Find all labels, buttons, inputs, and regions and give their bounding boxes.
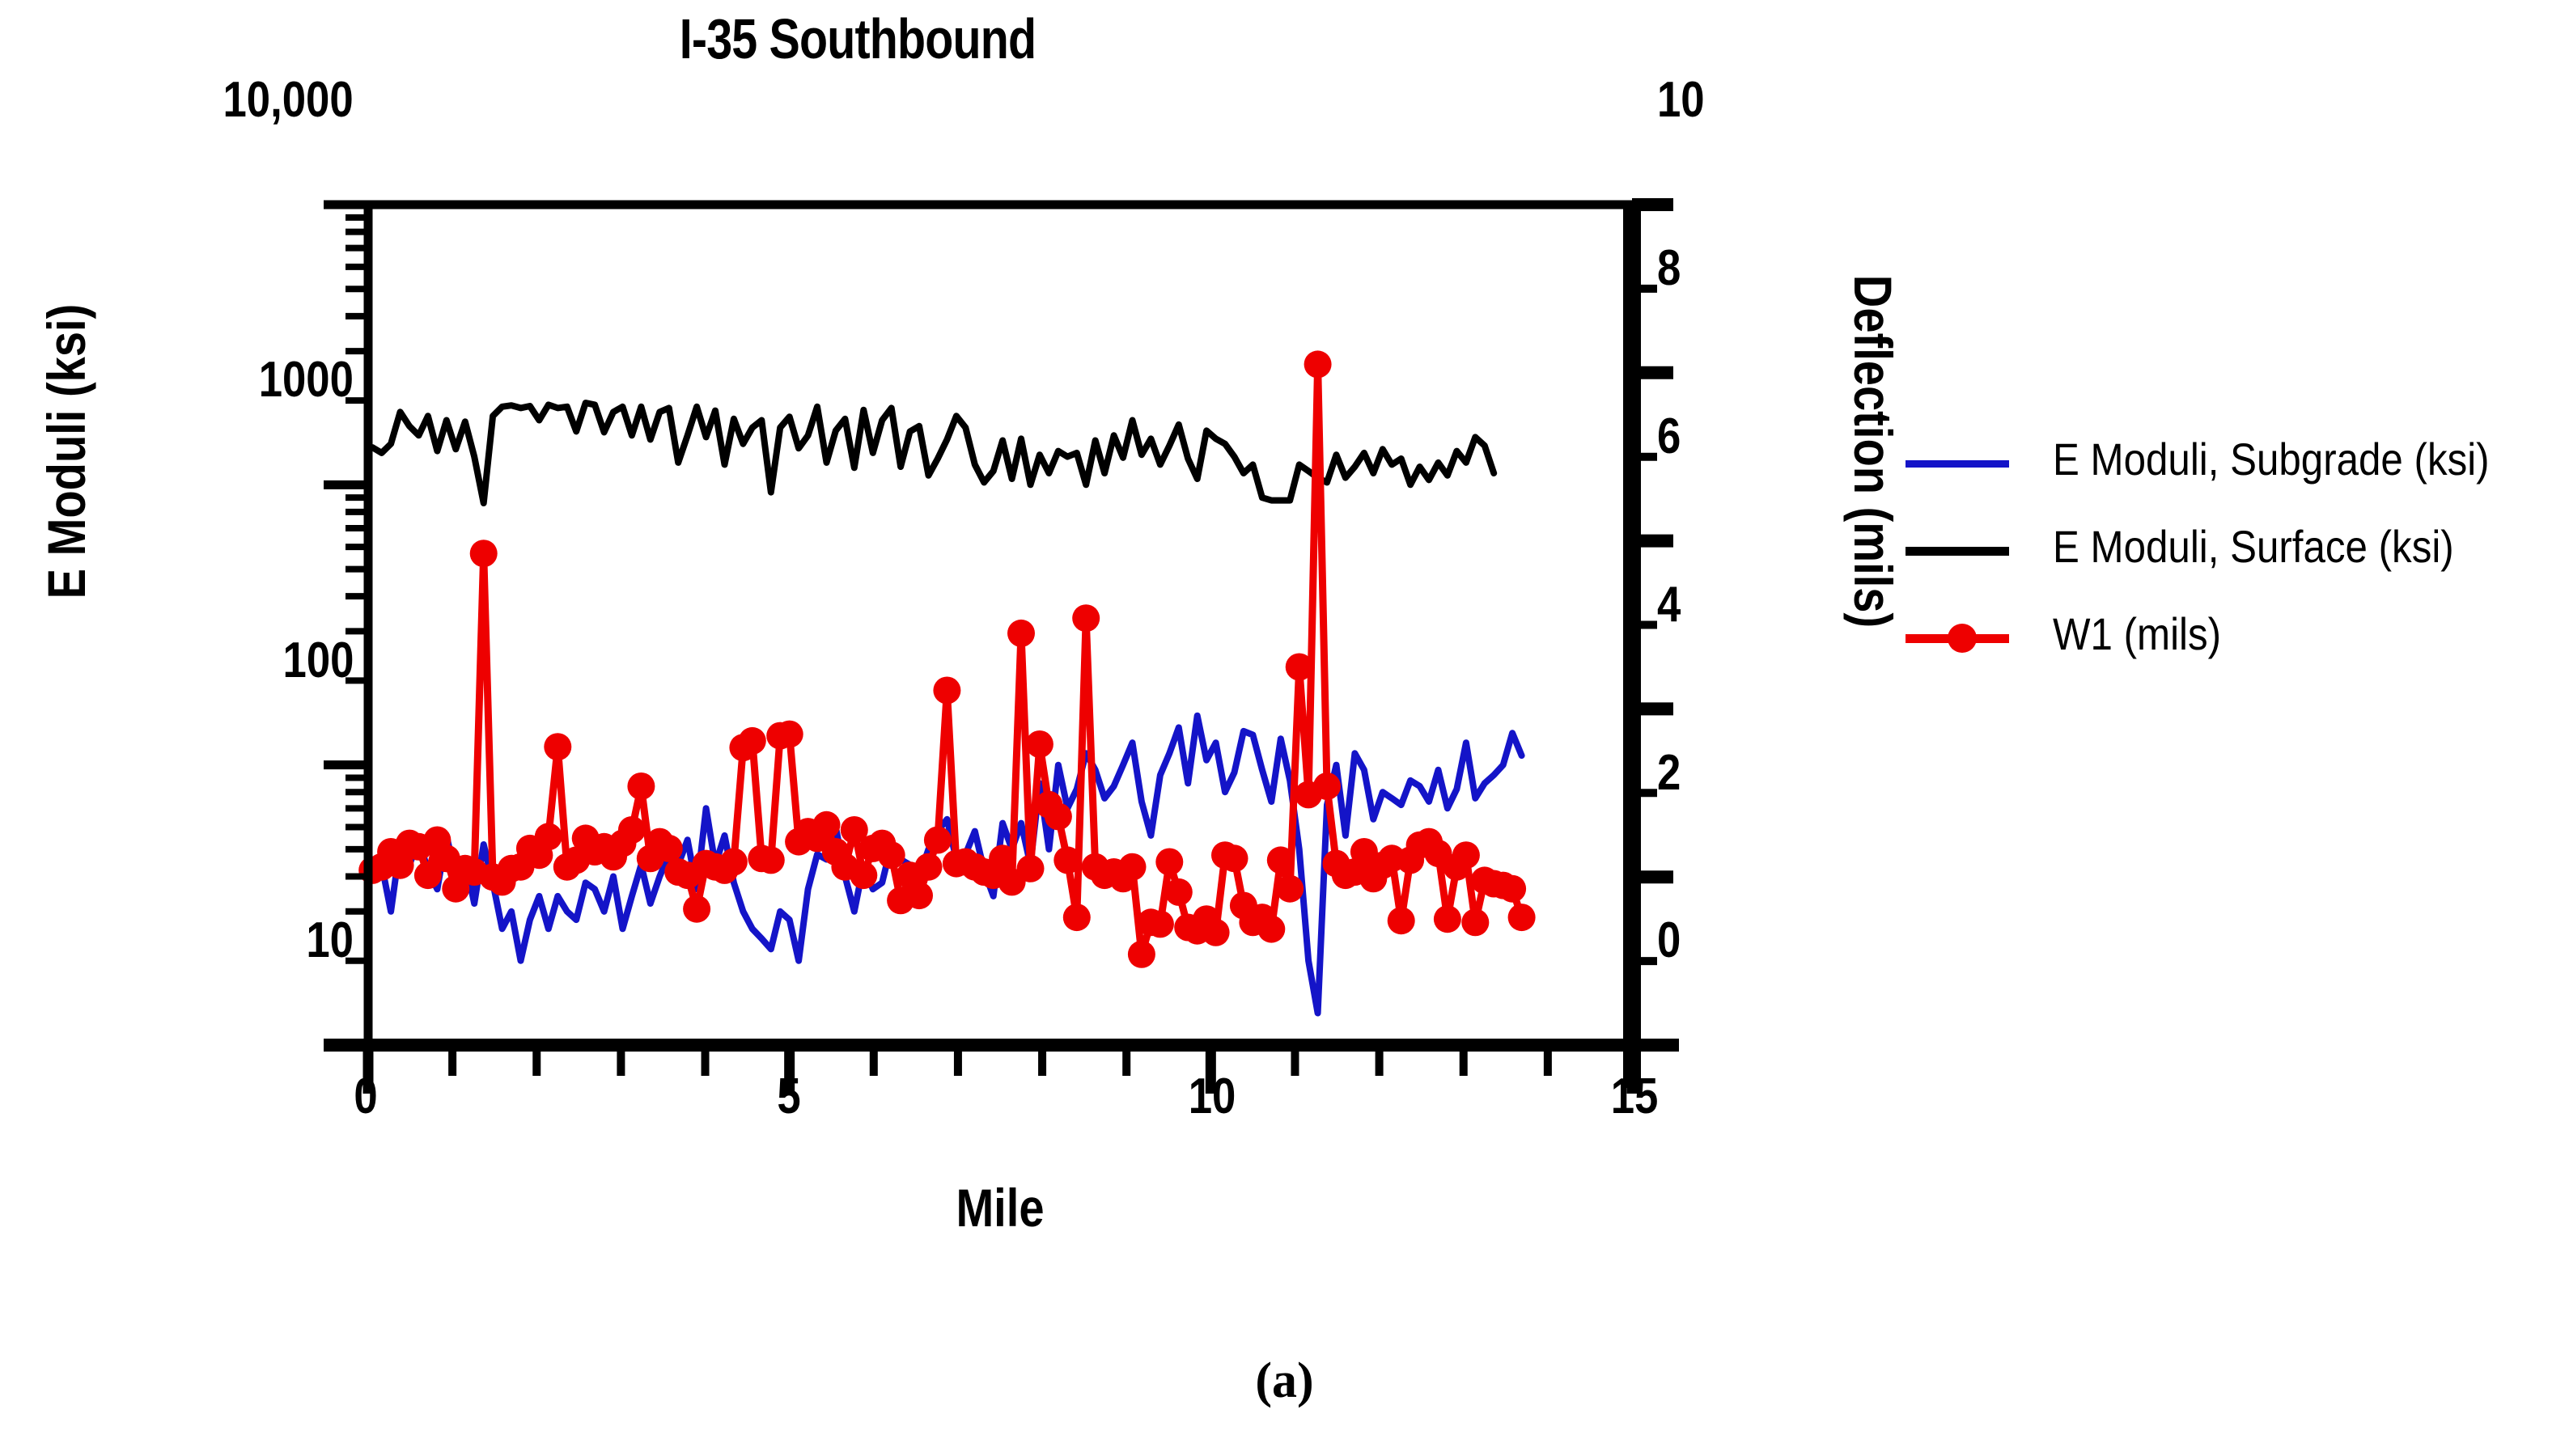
data-point xyxy=(655,835,683,862)
legend-label-subgrade: E Moduli, Subgrade (ksi) xyxy=(2053,433,2490,485)
legend-item-w1[interactable]: W1 (mils) xyxy=(1906,599,2553,687)
data-point xyxy=(544,733,571,760)
data-point xyxy=(878,841,905,869)
data-point xyxy=(1286,654,1313,681)
data-point xyxy=(720,849,748,876)
chart-figure: I-35 Southbound E Moduli (ksi) Deflectio… xyxy=(0,0,2569,1456)
data-point xyxy=(1165,878,1193,906)
data-point xyxy=(1313,772,1341,800)
data-point xyxy=(739,727,766,755)
data-point xyxy=(1007,620,1035,647)
data-point xyxy=(1221,844,1248,872)
data-point xyxy=(470,540,498,567)
data-point xyxy=(1304,350,1332,378)
legend-item-surface[interactable]: E Moduli, Surface (ksi) xyxy=(1906,512,2553,599)
data-point xyxy=(1452,841,1480,869)
plot-area xyxy=(0,0,2569,1456)
data-point xyxy=(683,895,710,923)
data-point xyxy=(618,816,646,844)
legend-label-surface: E Moduli, Surface (ksi) xyxy=(2053,520,2454,573)
data-point xyxy=(933,677,960,705)
data-point xyxy=(1388,907,1415,934)
legend-label-w1: W1 (mils) xyxy=(2053,607,2221,660)
data-point xyxy=(924,827,952,854)
data-point xyxy=(1257,916,1285,943)
data-point xyxy=(905,882,933,909)
data-point xyxy=(1053,846,1081,874)
series-e-moduli-surface-ksi xyxy=(372,403,1494,503)
data-point xyxy=(813,811,841,839)
data-point xyxy=(1155,849,1183,876)
data-point xyxy=(1017,855,1045,882)
data-point xyxy=(1147,910,1174,938)
data-point xyxy=(1202,919,1230,946)
legend-swatch-blue-line-icon xyxy=(1906,460,2009,468)
data-point xyxy=(1508,904,1536,931)
data-point xyxy=(1026,730,1053,758)
data-point xyxy=(1276,875,1304,903)
legend-marker-circle-icon xyxy=(1948,624,1977,653)
data-point xyxy=(915,853,943,881)
data-point xyxy=(1267,846,1295,874)
data-point xyxy=(535,823,562,850)
data-layer xyxy=(358,350,1535,1013)
axis-ticks xyxy=(324,205,1673,1094)
data-point xyxy=(989,844,1016,872)
figure-caption: (a) xyxy=(0,1352,2569,1410)
data-point xyxy=(627,772,655,800)
legend-item-subgrade[interactable]: E Moduli, Subgrade (ksi) xyxy=(1906,425,2553,512)
data-point xyxy=(1499,875,1526,903)
legend-swatch-black-line-icon xyxy=(1906,547,2009,556)
data-point xyxy=(1461,908,1489,936)
data-point xyxy=(757,846,785,874)
data-point xyxy=(1072,604,1100,632)
data-point xyxy=(850,861,877,889)
data-point xyxy=(1045,802,1072,830)
series-line xyxy=(372,403,1494,503)
data-point xyxy=(1434,905,1461,933)
data-point xyxy=(1128,941,1155,968)
axis-frame xyxy=(324,201,1679,1094)
legend: E Moduli, Subgrade (ksi) E Moduli, Surfa… xyxy=(1906,425,2553,687)
data-point xyxy=(1119,853,1147,881)
data-point xyxy=(1063,904,1091,931)
data-point xyxy=(776,721,803,748)
